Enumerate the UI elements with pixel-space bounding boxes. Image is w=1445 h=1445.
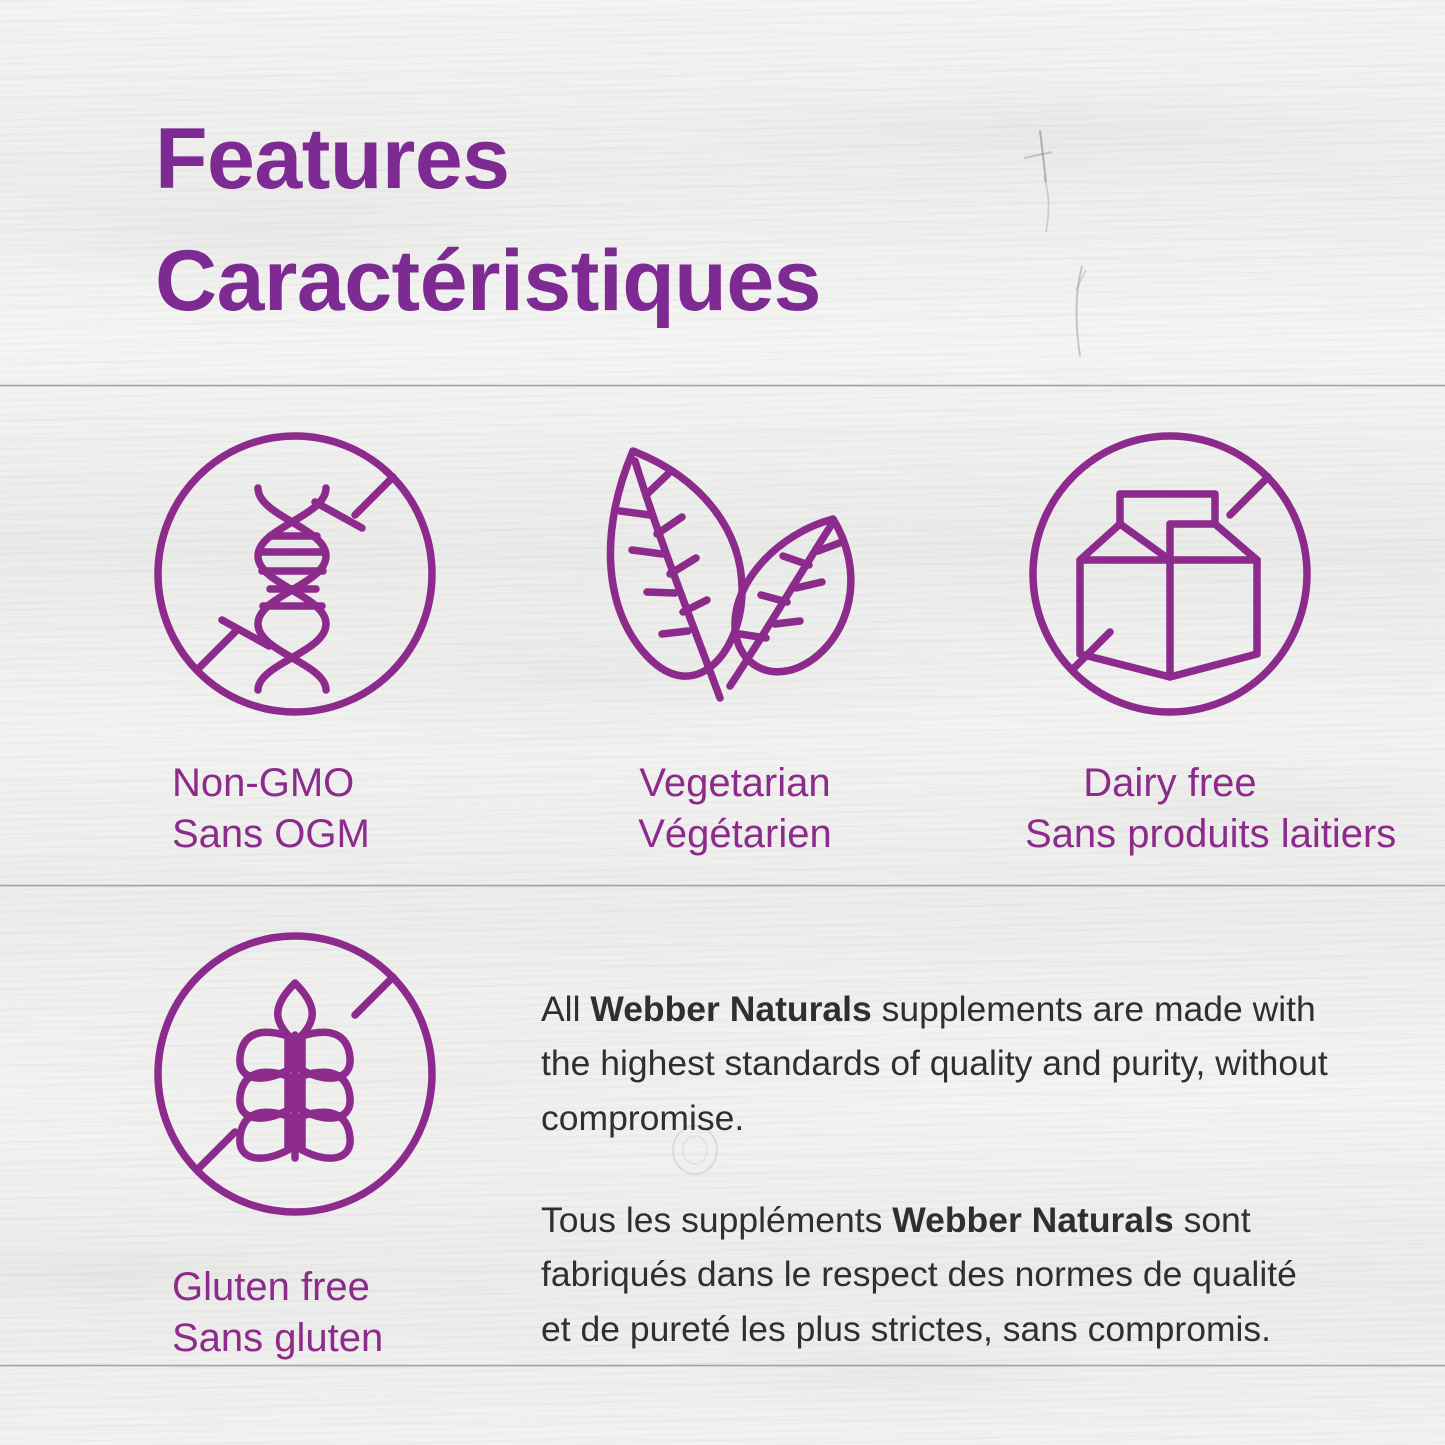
feature-non-gmo-label: Non-GMO Sans OGM — [172, 758, 440, 860]
paragraph-en-part1: All — [541, 989, 590, 1029]
feature-dairy-free-label-en: Dairy free — [1083, 761, 1256, 805]
milk-carton-no-symbol-icon — [1025, 432, 1315, 716]
brand-name-en: Webber Naturals — [590, 989, 871, 1029]
page-title: Features Caractéristiques — [155, 98, 1155, 342]
dna-no-symbol-icon — [150, 432, 440, 716]
feature-gluten-free-label: Gluten free Sans gluten — [172, 1262, 440, 1364]
feature-dairy-free-label-fr: Sans produits laitiers — [1025, 809, 1315, 860]
feature-dairy-free: Dairy free Sans produits laitiers — [1025, 432, 1315, 860]
content-layer: Features Caractéristiques — [0, 0, 1445, 1445]
feature-gluten-free-label-fr: Sans gluten — [172, 1313, 440, 1364]
two-leaves-icon — [590, 432, 880, 716]
feature-gluten-free-label-en: Gluten free — [172, 1265, 370, 1309]
feature-non-gmo-label-en: Non-GMO — [172, 761, 354, 805]
feature-vegetarian-label: Vegetarian Végétarien — [590, 758, 880, 860]
page-title-en: Features — [155, 98, 1155, 220]
feature-non-gmo: Non-GMO Sans OGM — [150, 432, 440, 860]
wheat-stalk-no-symbol-icon — [150, 932, 440, 1216]
feature-vegetarian: Vegetarian Végétarien — [590, 432, 880, 860]
feature-vegetarian-label-fr: Végétarien — [590, 809, 880, 860]
paragraph-french: Tous les suppléments Webber Naturals son… — [541, 1193, 1331, 1356]
features-infographic: Features Caractéristiques — [0, 0, 1445, 1445]
feature-dairy-free-label: Dairy free Sans produits laitiers — [1025, 758, 1315, 860]
page-title-fr: Caractéristiques — [155, 220, 1155, 342]
feature-vegetarian-label-en: Vegetarian — [639, 761, 830, 805]
paragraph-english: All Webber Naturals supplements are made… — [541, 982, 1331, 1145]
feature-gluten-free: Gluten free Sans gluten — [150, 932, 440, 1364]
paragraph-fr-part1: Tous les suppléments — [541, 1200, 892, 1240]
feature-non-gmo-label-fr: Sans OGM — [172, 809, 440, 860]
body-copy: All Webber Naturals supplements are made… — [541, 982, 1331, 1356]
brand-name-fr: Webber Naturals — [892, 1200, 1173, 1240]
